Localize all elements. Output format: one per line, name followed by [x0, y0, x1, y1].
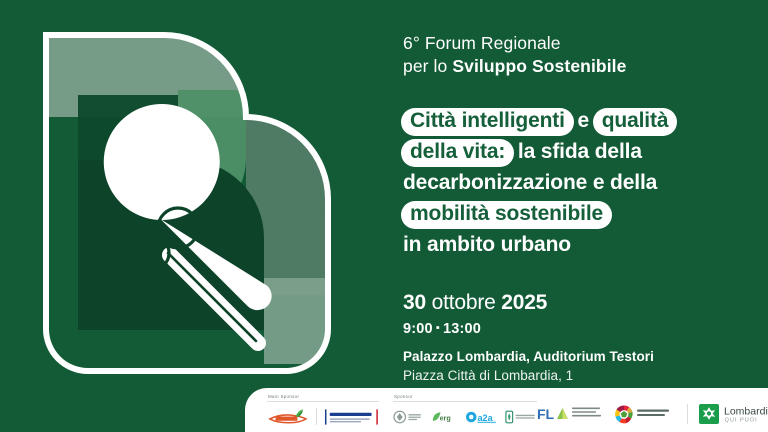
institutional-divider — [687, 404, 688, 424]
fondital-logo — [324, 408, 379, 426]
event-time-end: 13:00 — [443, 321, 481, 337]
title-line-5: in ambito urbano — [403, 229, 743, 260]
main-sponsor-label: Main Sponsor — [267, 394, 379, 399]
sostenibilita-logo — [614, 404, 676, 425]
main-sponsor-group: Main Sponsor — [267, 394, 379, 428]
title-line1-plain: e — [578, 109, 590, 132]
main-sponsor-logos — [267, 406, 379, 428]
title-line-1: Città intelligenti e qualità — [403, 105, 743, 136]
poster-content: 6° Forum Regionale per lo Sviluppo Soste… — [403, 32, 743, 383]
event-venue: Palazzo Lombardia, Auditorium Testori — [403, 349, 743, 364]
title-highlight-mobilita-sostenibile: mobilità sostenibile — [401, 201, 612, 229]
event-details: 30 ottobre 2025 9:00▪13:00 Palazzo Lomba… — [403, 290, 743, 383]
main-sponsor-rule — [267, 401, 379, 402]
title-highlight-della-vita: della vita: — [401, 139, 514, 167]
sponsor-group: Sponsor erg — [393, 394, 537, 428]
sponsor-label: Sponsor — [393, 394, 537, 399]
title-line-3: decarbonizzazione e della — [403, 167, 743, 198]
fla-logo: FL — [537, 404, 603, 425]
eyebrow: 6° Forum Regionale per lo Sviluppo Soste… — [403, 32, 743, 79]
svg-text:erg: erg — [439, 413, 450, 422]
title-highlight-qualita: qualità — [593, 108, 678, 136]
svg-text:FL: FL — [537, 406, 555, 422]
event-year: 2025 — [501, 291, 547, 314]
event-day: 30 — [403, 291, 426, 314]
title-line2-plain: la sfida della — [518, 140, 642, 163]
eyebrow-line2-strong: Sviluppo Sostenibile — [452, 56, 626, 76]
erg-logo: erg — [429, 409, 458, 425]
sponsor-logos: erg a2a — [393, 406, 537, 428]
a2a-logo: a2a — [465, 409, 498, 425]
time-separator-icon: ▪ — [436, 322, 440, 334]
event-date: 30 ottobre 2025 — [403, 290, 743, 315]
page-title: Città intelligenti e qualità della vita:… — [403, 105, 743, 260]
event-address: Piazza Città di Lombardia, 1 — [403, 368, 743, 383]
svg-text:QUI PUOI: QUI PUOI — [725, 418, 758, 424]
eyebrow-line1: 6° Forum Regionale — [403, 32, 743, 55]
leaf-artwork — [0, 0, 340, 410]
eyebrow-line2-plain: per lo — [403, 56, 452, 76]
svg-text:Lombardia: Lombardia — [724, 406, 768, 418]
title-line-2: della vita: la sfida della — [403, 136, 743, 167]
title-line-4: mobilità sostenibile — [403, 198, 743, 229]
sponsor-rule — [393, 401, 537, 402]
university-logo — [393, 409, 422, 425]
lombardia-sponsor-logo — [504, 409, 537, 425]
sdg-wheel-icon — [615, 405, 633, 423]
event-time: 9:00▪13:00 — [403, 321, 743, 337]
main-sponsor-divider — [316, 408, 317, 425]
svg-text:a2a: a2a — [477, 412, 493, 422]
title-highlight-citta-intelligenti: Città intelligenti — [401, 108, 574, 136]
institutional-logos: FL — [537, 394, 768, 425]
sponsor-footer: Main Sponsor — [245, 388, 768, 432]
event-time-start: 9:00 — [403, 321, 433, 337]
event-month: ottobre — [432, 291, 496, 314]
caleffi-logo — [267, 408, 309, 426]
regione-lombardia-logo: Lombardia QUI PUOI — [699, 403, 768, 425]
eyebrow-line2: per lo Sviluppo Sostenibile — [403, 55, 743, 78]
